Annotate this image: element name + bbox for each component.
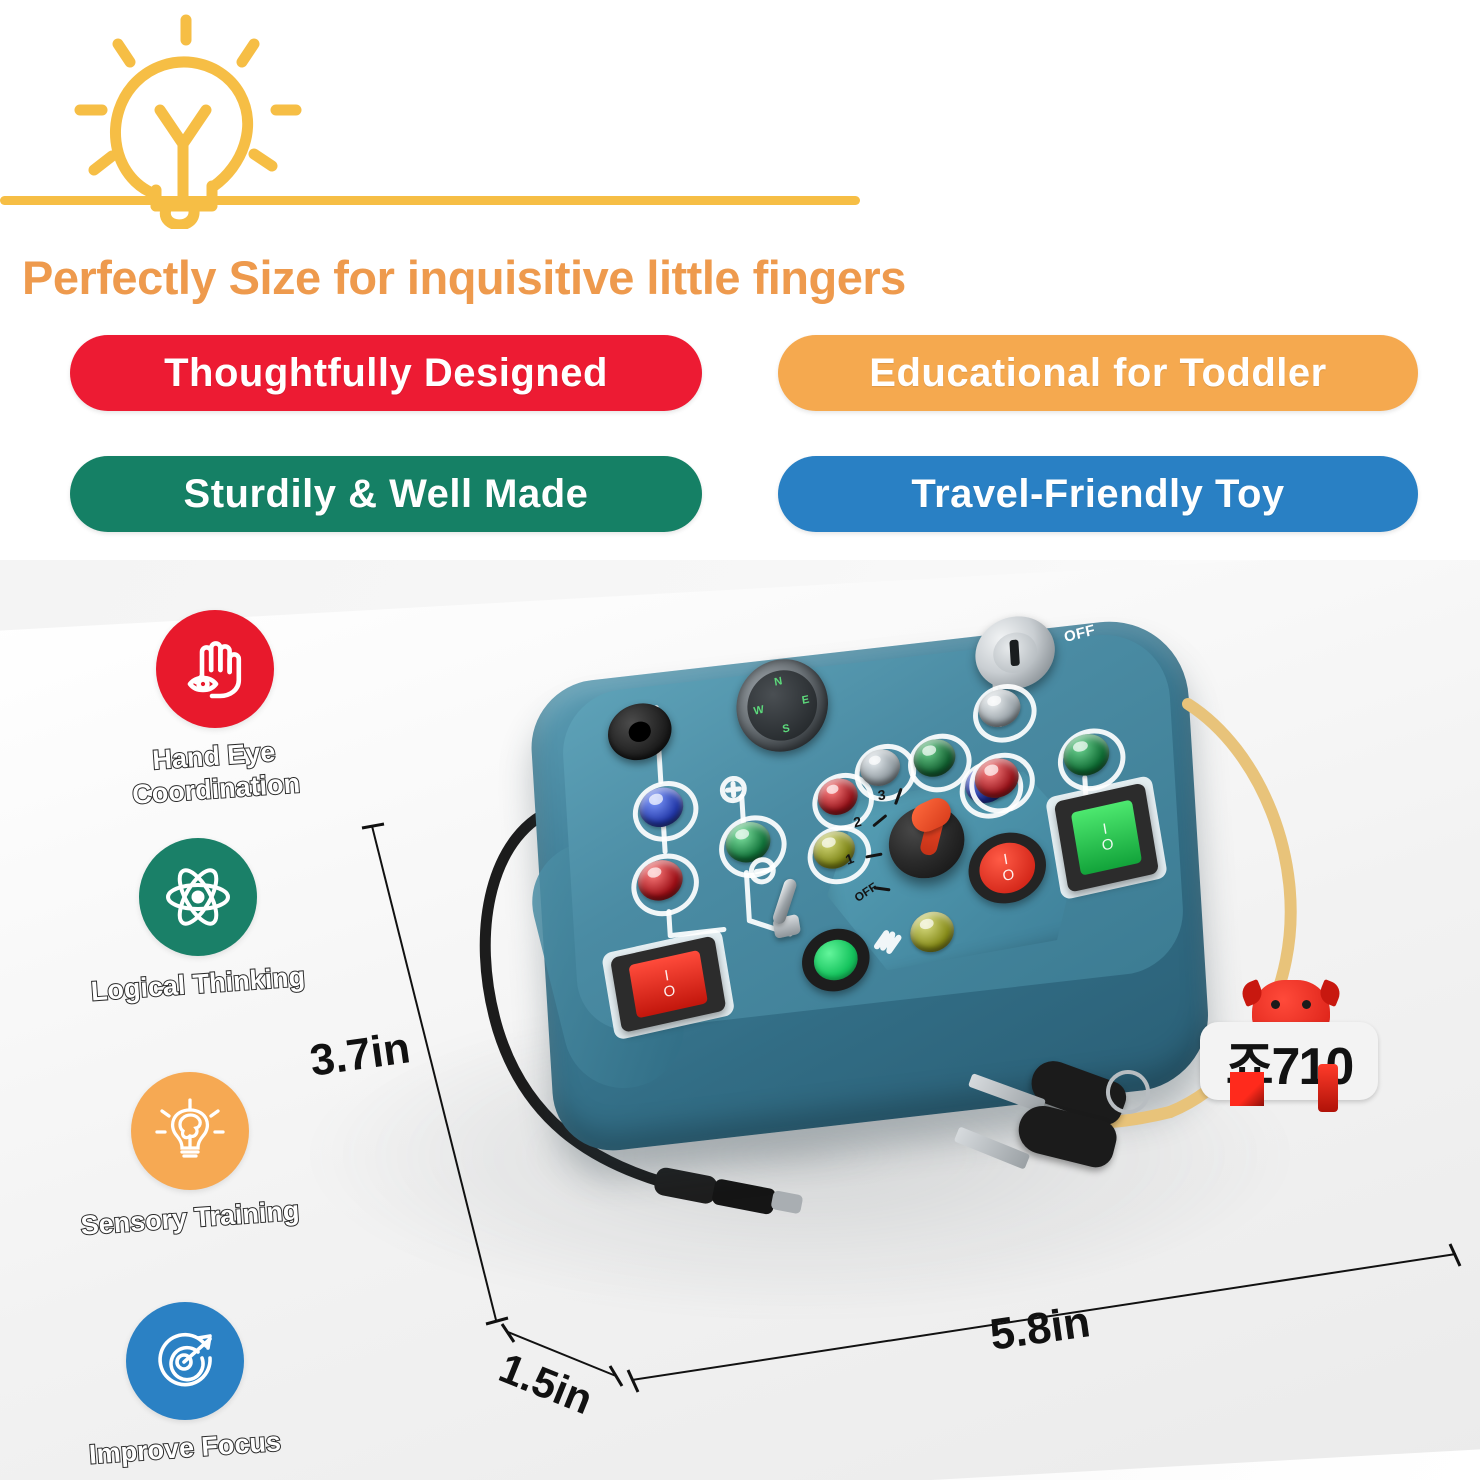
target-icon-circle xyxy=(126,1302,244,1420)
feature-label: Hand Eye Coordination xyxy=(73,730,357,815)
target-icon xyxy=(148,1324,222,1398)
atom-icon xyxy=(161,860,235,934)
badge-sturdily-well-made: Sturdily & Well Made xyxy=(70,456,702,532)
brain-bulb-icon-circle xyxy=(131,1072,249,1190)
page-headline: Perfectly Size for inquisitive little fi… xyxy=(22,250,906,305)
rocker-cap-red-round: I O xyxy=(976,837,1039,898)
brand-watermark: 죠710 xyxy=(1190,980,1380,1110)
bulb-decoration-band xyxy=(0,0,1480,230)
mascot-eye-right xyxy=(1302,1000,1311,1009)
watermark-cube-icon xyxy=(1230,1072,1264,1106)
feature-sensory-training: Sensory Training xyxy=(50,1072,330,1235)
badge-thoughtfully-designed: Thoughtfully Designed xyxy=(70,335,702,411)
rocker-off-mark: O xyxy=(1101,836,1115,854)
mascot-eye-left xyxy=(1271,1000,1280,1009)
feature-hand-eye-coordination: Hand Eye Coordination xyxy=(75,610,355,806)
toy-control-panel: N E S W OFF ON xyxy=(560,628,1187,1037)
infographic-page: Perfectly Size for inquisitive little fi… xyxy=(0,0,1480,1480)
mascot-horn-left xyxy=(1239,979,1266,1007)
badge-travel-friendly-toy: Travel-Friendly Toy xyxy=(778,456,1418,532)
feature-improve-focus: Improve Focus xyxy=(45,1302,325,1465)
rocker-off-mark: O xyxy=(1002,867,1016,885)
hand-eye-icon-circle xyxy=(156,610,274,728)
lightbulb-icon xyxy=(44,14,334,229)
rocker-switch-green[interactable]: I O xyxy=(1054,782,1159,892)
hand-eye-icon xyxy=(178,632,252,706)
feature-logical-thinking: Logical Thinking xyxy=(58,838,338,1001)
busy-board-toy: N E S W OFF ON xyxy=(430,600,1330,1300)
badge-educational-for-toddler: Educational for Toddler xyxy=(778,335,1418,411)
rocker-cap-green: I O xyxy=(1071,799,1142,875)
watermark-bar-icon xyxy=(1318,1064,1338,1112)
mascot-horn-right xyxy=(1317,979,1344,1007)
brain-bulb-icon xyxy=(153,1094,227,1168)
atom-icon-circle xyxy=(139,838,257,956)
